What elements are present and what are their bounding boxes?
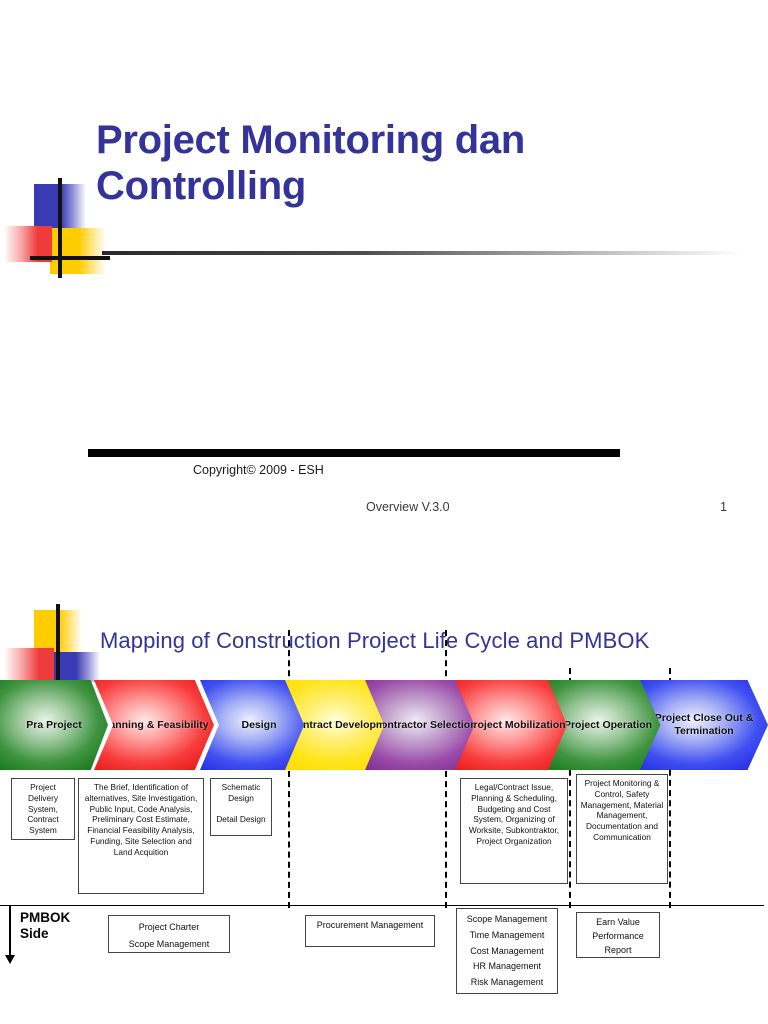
vertical-line-shape <box>58 178 62 278</box>
pmbok-side-label: PMBOK Side <box>20 910 82 942</box>
pmbok-down-arrow-icon <box>9 905 11 955</box>
chevron-label: Project Mobilization <box>464 719 567 732</box>
pmbok-box-procurement: Procurement Management <box>305 915 435 947</box>
page-title: Project Monitoring dan Controlling <box>96 118 696 209</box>
activity-box-pra-project: Project Delivery System, Contract System <box>11 778 75 840</box>
chevron-label: Project Operation <box>562 719 654 732</box>
title-underline-rule <box>102 251 742 255</box>
activity-box-planning: The Brief, Identification of alternative… <box>78 778 204 894</box>
activity-box-row: Project Delivery System, Contract System… <box>0 772 768 900</box>
pmbok-section-divider <box>0 905 764 906</box>
page-number: 1 <box>720 500 727 514</box>
activity-box-operation: Project Monitoring & Control, Safety Man… <box>576 774 668 884</box>
decoration-squares-icon-2 <box>12 608 100 680</box>
phase-chevron-row: Pra Project Planning & Feasibility Desig… <box>0 680 768 772</box>
horizontal-line-shape <box>30 256 110 260</box>
copyright-text: Copyright© 2009 - ESH <box>193 463 324 477</box>
chevron-label: Pra Project <box>24 719 83 732</box>
slide-title: Project Monitoring dan Controlling Copyr… <box>0 0 768 560</box>
overview-version-text: Overview V.3.0 <box>366 500 450 514</box>
pmbok-box-knowledge-areas: Scope Management Time Management Cost Ma… <box>456 908 558 994</box>
pmbok-box-project-charter: Project Charter Scope Management <box>108 915 230 953</box>
activity-box-mobilization: Legal/Contract Issue, Planning & Schedul… <box>460 778 568 884</box>
chevron-label: Design <box>239 719 278 732</box>
vertical-line-shape-2 <box>56 604 60 684</box>
activity-box-design: Schematic Design Detail Design <box>210 778 272 836</box>
decoration-squares-icon <box>18 178 100 278</box>
presentation-page: Project Monitoring dan Controlling Copyr… <box>0 0 768 1024</box>
chevron-pra-project[interactable]: Pra Project <box>0 680 108 770</box>
chevron-planning-feasibility[interactable]: Planning & Feasibility <box>94 680 214 770</box>
slide-mapping: Mapping of Construction Project Life Cyc… <box>0 560 768 1024</box>
chevron-label: Contractor Selection <box>371 719 478 732</box>
footer-black-bar <box>88 449 620 457</box>
slide-heading: Mapping of Construction Project Life Cyc… <box>100 628 649 654</box>
red-square-shape-2 <box>4 648 54 680</box>
pmbok-box-earn-value: Earn Value Performance Report <box>576 912 660 958</box>
chevron-label: Planning & Feasibility <box>97 719 210 732</box>
